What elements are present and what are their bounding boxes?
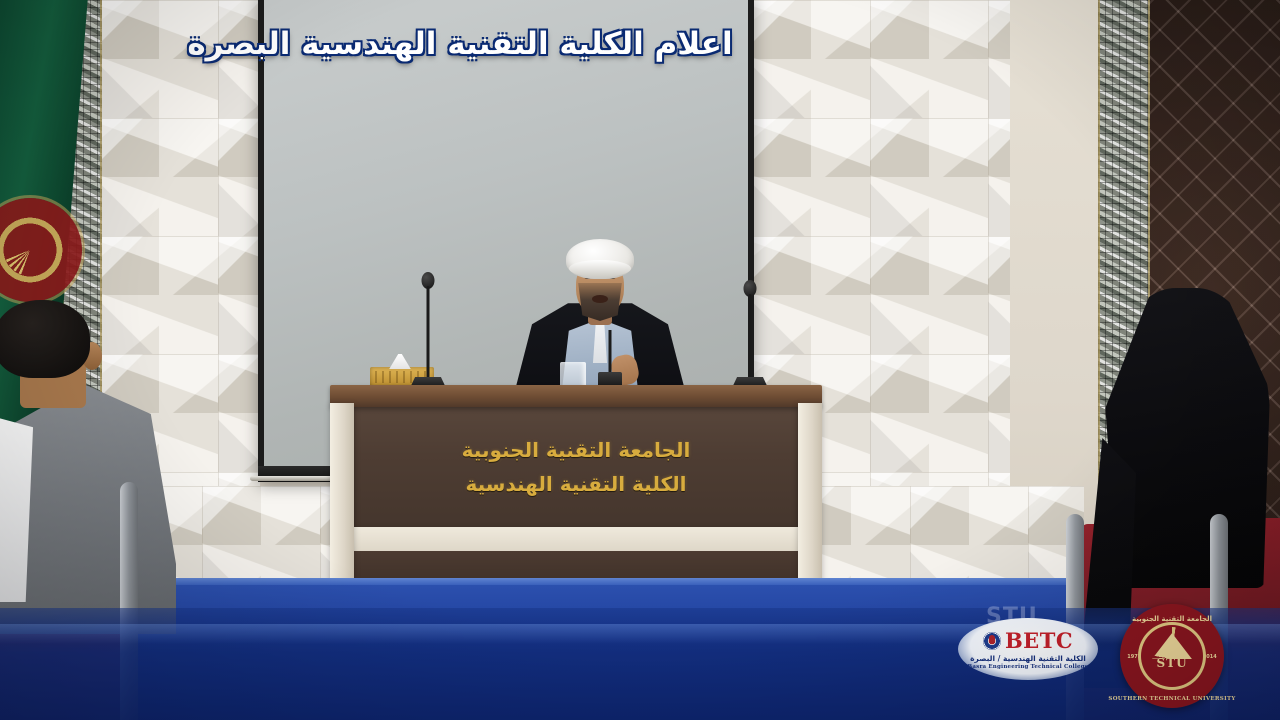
betc-english-name: Basra Engineering Technical College	[968, 664, 1089, 670]
audience-left-hair	[0, 300, 90, 378]
stu-english-name: SOUTHERN TECHNICAL UNIVERSITY	[1108, 696, 1235, 702]
betc-arabic-name: الكلية التقنية الهندسية / البصرة	[970, 654, 1086, 663]
betc-logo-row: BETC	[983, 628, 1073, 653]
stu-year-right: 2014	[1203, 654, 1217, 660]
desktop-microphone	[597, 330, 623, 388]
betc-logo: BETC الكلية التقنية الهندسية / البصرة Ba…	[958, 618, 1098, 680]
microphone-left	[408, 272, 448, 390]
podium-post-right	[798, 403, 822, 599]
stu-seal-inner: STU	[1141, 625, 1203, 687]
microphone-left-stem	[427, 286, 430, 378]
audience-member-left	[0, 300, 176, 720]
flag-seal-rays-icon	[4, 224, 56, 276]
podium-desk-top	[330, 385, 822, 407]
chair-right-rail-a	[1066, 514, 1084, 720]
speaker-mouth	[592, 295, 608, 303]
microphone-right	[730, 280, 770, 390]
podium-band	[352, 527, 800, 551]
conference-photo: الجامعة التقنية الجنوبية الكلية التقنية …	[0, 0, 1280, 720]
chair-left-rail-inner	[120, 482, 138, 720]
podium-post-left	[330, 403, 354, 599]
chair-right-rail-b	[1210, 514, 1228, 720]
podium-front-panel	[352, 407, 800, 527]
desktop-microphone-stem	[609, 330, 612, 372]
betc-acronym: BETC	[1005, 628, 1073, 653]
podium-desk: الجامعة التقنية الجنوبية الكلية التقنية …	[330, 385, 822, 610]
speaker-turban	[566, 239, 634, 279]
betc-gear-icon	[983, 632, 1001, 650]
microphone-right-stem	[749, 294, 752, 378]
stu-letters: STU	[1156, 656, 1187, 670]
banner-headline: اعلام الكلية التقنية الهندسية البصرة	[0, 26, 1280, 62]
stu-seal-logo: الجامعة التقنية الجنوبية 1972 2014 STU S…	[1120, 604, 1224, 708]
stu-year-left: 1972	[1127, 654, 1141, 660]
stu-arabic-name: الجامعة التقنية الجنوبية	[1132, 615, 1212, 623]
